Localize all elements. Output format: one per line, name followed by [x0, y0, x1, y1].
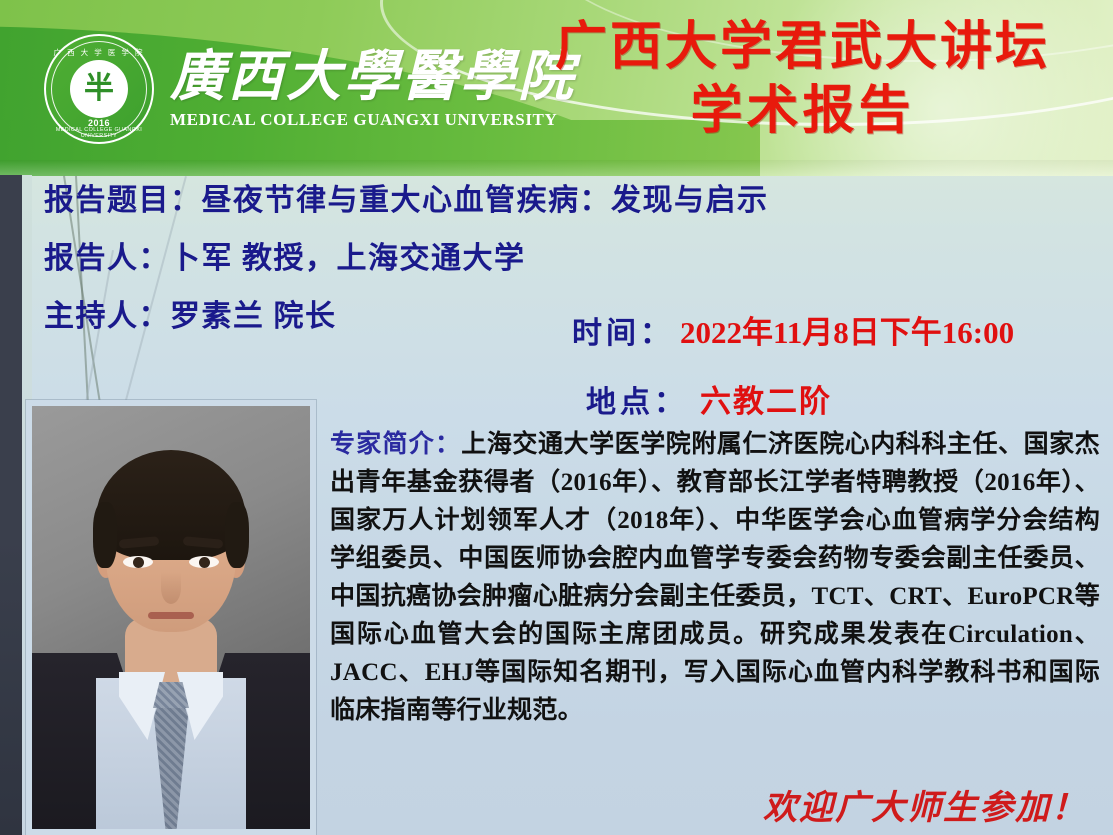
portrait-nose [161, 572, 181, 604]
speaker-bio: 专家简介：上海交通大学医学院附属仁济医院心内科科主任、国家杰出青年基金获得者（2… [330, 426, 1100, 730]
poster-title: 广西大学君武大讲坛 学术报告 [500, 20, 1105, 140]
schedule-time-value: 2022年11月8日下午16:00 [680, 307, 1014, 352]
poster-title-line-2: 学术报告 [500, 84, 1105, 140]
speaker-portrait-frame [26, 400, 316, 835]
schedule-location-value: 六教二阶 [700, 376, 832, 421]
university-seal-icon: 广 西 大 学 医 学 院 半 2016 MEDICAL COLLEGE GUA… [44, 34, 154, 144]
portrait-eye-left [123, 556, 153, 568]
university-logo: 广 西 大 学 医 学 院 半 2016 MEDICAL COLLEGE GUA… [44, 34, 576, 144]
schedule-location-row: 地点： 六教二阶 [586, 376, 1014, 421]
schedule-time-label: 时间： [572, 308, 674, 352]
seal-center-disc: 半 [70, 60, 128, 118]
event-topic: 报告题目：昼夜节律与重大心血管疾病：发现与启示 [44, 186, 769, 216]
portrait-mouth [148, 612, 194, 619]
seminar-poster: 广 西 大 学 医 学 院 半 2016 MEDICAL COLLEGE GUA… [0, 0, 1113, 835]
speaker-portrait [32, 406, 310, 829]
event-speaker: 报告人：卜军 教授，上海交通大学 [44, 244, 769, 274]
schedule-location-label: 地点： [586, 377, 688, 421]
speaker-bio-paragraph: 专家简介：上海交通大学医学院附属仁济医院心内科科主任、国家杰出青年基金获得者（2… [330, 426, 1100, 730]
seal-arc-top-text: 广 西 大 学 医 学 院 [46, 47, 152, 58]
speaker-bio-text: 上海交通大学医学院附属仁济医院心内科科主任、国家杰出青年基金获得者（2016年）… [330, 431, 1100, 724]
portrait-hair-side-left [93, 502, 117, 568]
seal-glyph: 半 [84, 74, 114, 104]
welcome-note: 欢迎广大师生参加！ [763, 780, 1087, 829]
portrait-eye-right [189, 556, 219, 568]
left-edge-dark-strip [0, 175, 22, 835]
poster-title-line-1: 广西大学君武大讲坛 [500, 20, 1105, 76]
schedule-block: 时间： 2022年11月8日下午16:00 地点： 六教二阶 [572, 307, 1014, 421]
header-bottom-shade [0, 160, 1113, 176]
speaker-bio-label: 专家简介： [330, 431, 461, 458]
schedule-time-row: 时间： 2022年11月8日下午16:00 [572, 307, 1014, 352]
seal-arc-bottom-text: MEDICAL COLLEGE GUANGXI UNIVERSITY [46, 127, 152, 139]
portrait-hair-side-right [225, 502, 249, 568]
